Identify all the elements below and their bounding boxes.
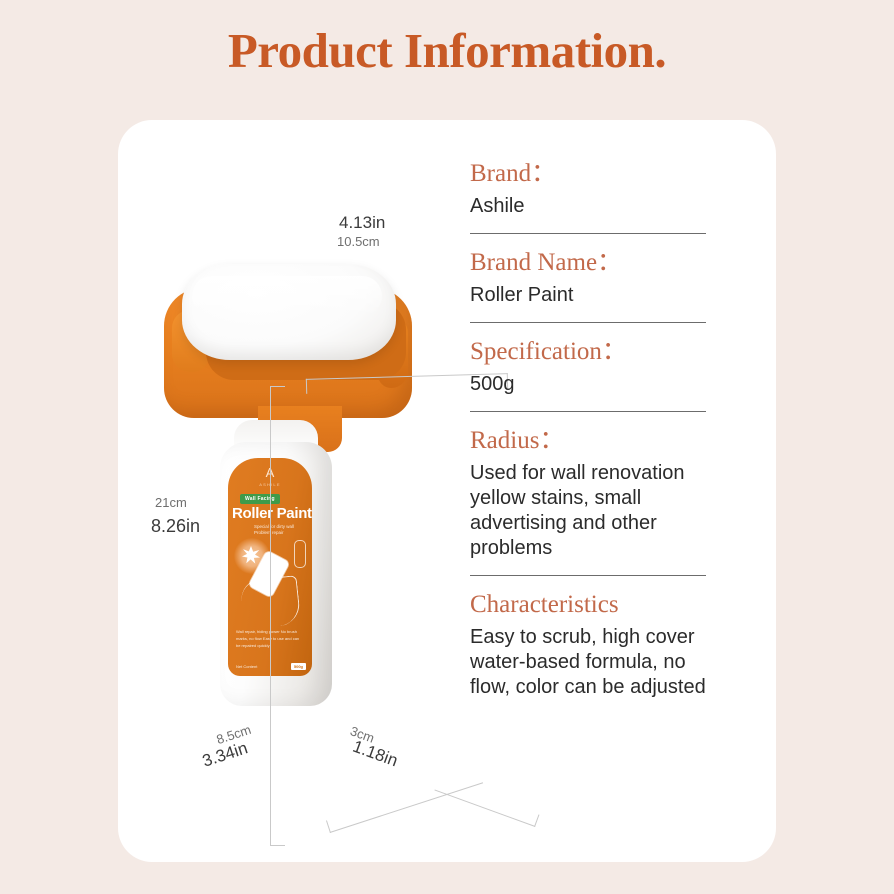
info-row-specification: Specification： 500g — [470, 336, 776, 397]
label-side-pill — [294, 540, 306, 568]
page-title: Product Information. — [0, 22, 894, 79]
info-divider-2 — [470, 322, 706, 323]
info-divider-3 — [470, 411, 706, 412]
dimension-bottom-right-inches: 1.18in — [350, 737, 400, 772]
info-row-brand: Brand： Ashile — [470, 158, 776, 219]
dimension-left-centimeters: 21cm — [155, 495, 187, 510]
info-value-radius: Used for wall renovation yellow stains, … — [470, 461, 722, 561]
info-label-specification: Specification： — [470, 336, 776, 368]
info-label-radius: Radius： — [470, 425, 776, 457]
dimension-bottom-left-inches: 3.34in — [200, 738, 250, 771]
label-footer-badge: 500g — [291, 663, 306, 670]
info-value-brand: Ashile — [470, 194, 722, 219]
roller-sleeve — [182, 264, 396, 360]
label-body-lines: Wall repair, hiding power No brush marks… — [236, 628, 302, 649]
info-row-brand-name: Brand Name： Roller Paint — [470, 247, 776, 308]
info-divider-4 — [470, 575, 706, 576]
dimension-bracket-bottom-left — [326, 771, 483, 833]
product-info-list: Brand： Ashile Brand Name： Roller Paint S… — [470, 120, 776, 862]
product-info-card: A ASHILE Wall Facing Roller Paint Specia… — [118, 120, 776, 862]
info-value-brand-name: Roller Paint — [470, 283, 722, 308]
dimension-top-centimeters: 10.5cm — [337, 234, 380, 249]
info-row-radius: Radius： Used for wall renovation yellow … — [470, 425, 776, 561]
product-illustration: A ASHILE Wall Facing Roller Paint Specia… — [118, 120, 458, 862]
product-image-pane: A ASHILE Wall Facing Roller Paint Specia… — [118, 120, 458, 862]
info-divider-1 — [470, 233, 706, 234]
info-row-characteristics: Characteristics Easy to scrub, high cove… — [470, 589, 776, 700]
info-value-specification: 500g — [470, 372, 722, 397]
info-label-brand-name: Brand Name： — [470, 247, 776, 279]
label-footer-text: Net Content — [236, 664, 257, 669]
dimension-top-inches: 4.13in — [339, 213, 385, 233]
info-label-brand: Brand： — [470, 158, 776, 190]
info-value-characteristics: Easy to scrub, high cover water-based fo… — [470, 625, 722, 700]
dimension-bracket-left — [270, 386, 285, 846]
info-label-characteristics: Characteristics — [470, 589, 776, 621]
dimension-left-inches: 8.26in — [151, 516, 200, 537]
